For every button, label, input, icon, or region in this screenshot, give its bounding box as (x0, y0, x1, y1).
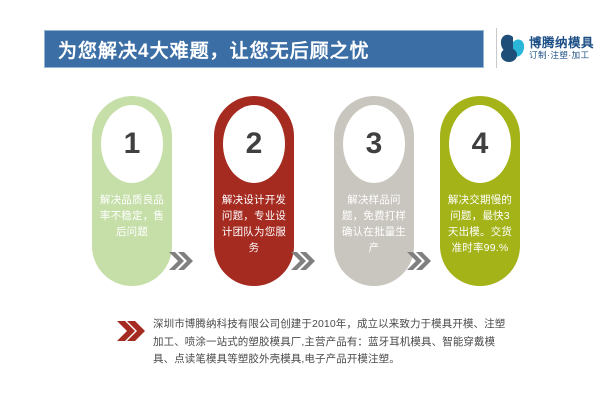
company-logo: 博腾纳模具 订制·注塑·加工 (500, 30, 596, 66)
logo-text-group: 博腾纳模具 订制·注塑·加工 (529, 36, 594, 61)
step-number: 4 (472, 129, 489, 159)
chevron-separator-icon (406, 251, 432, 271)
chevron-separator-icon (290, 251, 316, 271)
title-banner: 为您解决4大难题，让您无后顾之忧 (44, 30, 484, 68)
double-chevron-marker-icon (116, 320, 146, 342)
step-description: 解决样品问题，免费打样确认在批量生产 (340, 192, 408, 256)
steps-row: 1 解决品质良品率不稳定，售后问题 2 解决设计开发问题，专业设计团队为您服务 … (0, 96, 600, 296)
step-pill-1: 1 解决品质良品率不稳定，售后问题 (92, 96, 172, 286)
company-intro-text: 深圳市博腾纳科技有限公司创建于2010年，成立以来致力于模具开模、注塑加工、喷涂… (153, 316, 508, 369)
chevron-separator-icon (168, 251, 194, 271)
step-number-circle: 1 (101, 105, 163, 183)
step-number-circle: 2 (223, 105, 285, 183)
logo-divider (496, 28, 497, 68)
logo-tagline: 订制·注塑·加工 (529, 50, 594, 61)
step-number-circle: 3 (343, 105, 405, 183)
step-description: 解决品质良品率不稳定，售后问题 (98, 192, 166, 240)
company-intro-block: 深圳市博腾纳科技有限公司创建于2010年，成立以来致力于模具开模、注塑加工、喷涂… (0, 308, 600, 388)
step-pill-3: 3 解决样品问题，免费打样确认在批量生产 (334, 96, 414, 286)
step-description: 解决交期慢的问题，最快3天出模。交货准时率99.% (446, 192, 514, 256)
step-pill-2: 2 解决设计开发问题，专业设计团队为您服务 (214, 96, 294, 286)
page-header: 为您解决4大难题，让您无后顾之忧 博腾纳模具 订制·注塑·加工 (0, 0, 600, 88)
step-number: 2 (246, 129, 263, 159)
step-number: 1 (124, 129, 141, 159)
page-title: 为您解决4大难题，让您无后顾之忧 (45, 36, 370, 63)
butterfly-logo-icon (500, 33, 526, 63)
step-description: 解决设计开发问题，专业设计团队为您服务 (220, 192, 288, 256)
logo-company-name: 博腾纳模具 (529, 36, 594, 50)
step-pill-4: 4 解决交期慢的问题，最快3天出模。交货准时率99.% (440, 96, 520, 286)
step-number: 3 (366, 129, 383, 159)
step-number-circle: 4 (449, 105, 511, 183)
